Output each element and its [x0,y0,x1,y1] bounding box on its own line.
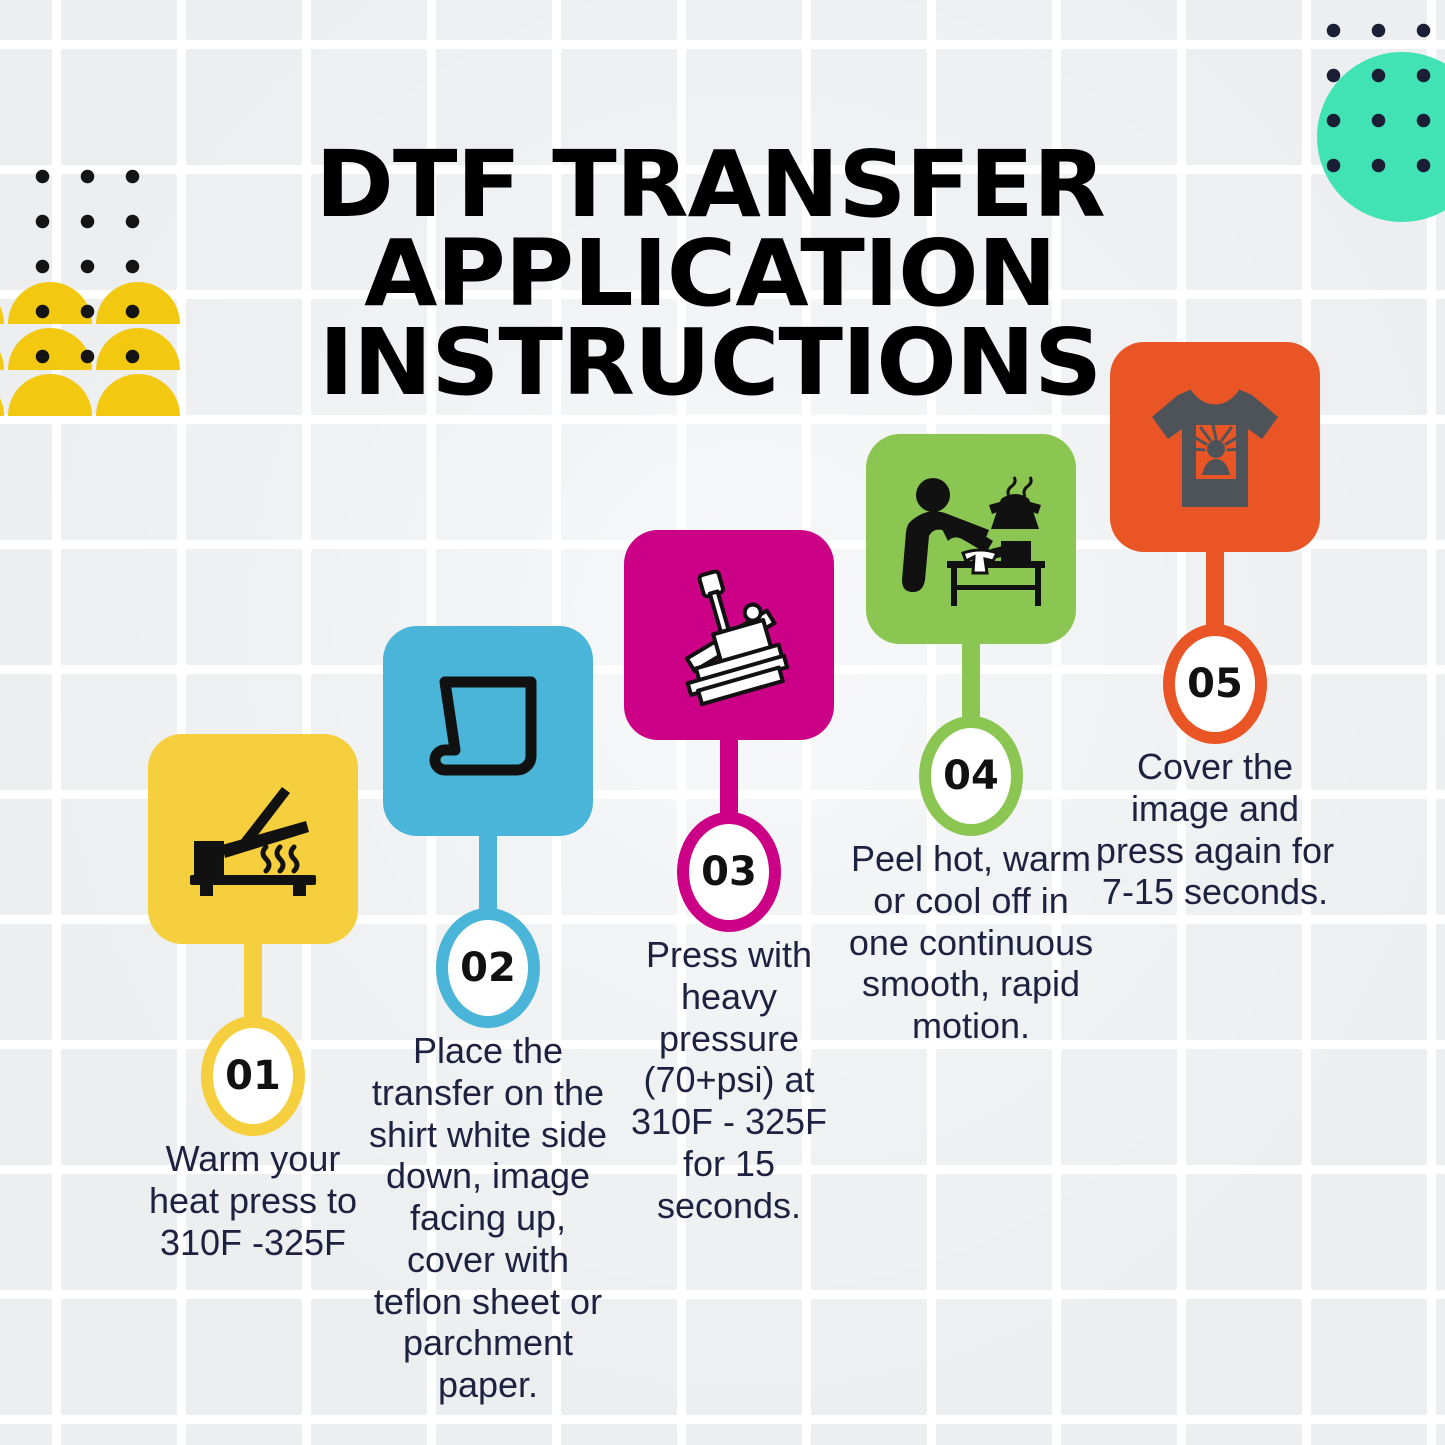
peeling-worker-icon [889,469,1054,609]
step-02-number: 02 [460,945,516,991]
step-02-badge: 02 [436,908,540,1028]
step-01-number: 01 [225,1053,281,1099]
transfer-sheet-icon [423,666,553,796]
step-01: 01 Warm your heat press to 310F -325F [128,734,378,1263]
step-03-badge: 03 [677,812,781,932]
step-02-tile [383,626,593,836]
step-02: 02 Place the transfer on the shirt white… [363,626,613,1406]
step-05: 05 Cover the image and press again for 7… [1090,342,1340,913]
heat-press-open-icon [178,779,328,899]
step-01-tile [148,734,358,944]
step-03-connector: 03 [604,740,854,940]
step-01-connector: 01 [128,944,378,1144]
step-01-caption: Warm your heat press to 310F -325F [128,1138,378,1263]
step-03: 03 Press with heavy pressure (70+psi) at… [604,530,854,1226]
step-05-badge: 05 [1163,624,1267,744]
step-05-caption: Cover the image and press again for 7-15… [1090,746,1340,913]
step-01-badge: 01 [201,1016,305,1136]
step-03-caption: Press with heavy pressure (70+psi) at 31… [604,934,854,1226]
step-05-connector: 05 [1090,552,1340,752]
step-05-number: 05 [1187,661,1243,707]
step-02-connector: 02 [363,836,613,1036]
step-03-tile [624,530,834,740]
page-title: DTF TRANSFER APPLICATION INSTRUCTIONS [102,140,1317,408]
step-04-tile [866,434,1076,644]
step-04-caption: Peel hot, warm or cool off in one contin… [846,838,1096,1047]
step-04-badge: 04 [919,716,1023,836]
step-04: 04 Peel hot, warm or cool off in one con… [846,434,1096,1047]
step-02-caption: Place the transfer on the shirt white si… [363,1030,613,1406]
step-04-number: 04 [943,753,999,799]
heat-press-machine-icon [654,560,804,710]
step-04-connector: 04 [846,644,1096,844]
step-03-number: 03 [701,849,757,895]
